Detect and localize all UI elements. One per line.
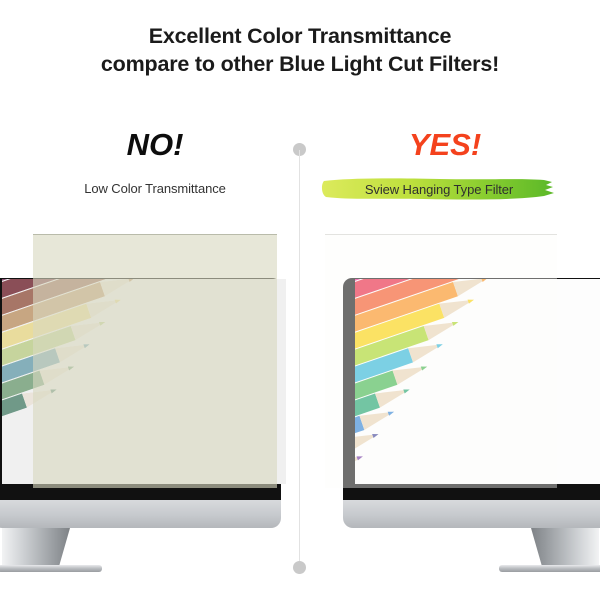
verdict-label-yes: YES! xyxy=(320,127,570,163)
product-comparison-banner: Excellent Color Transmittance compare to… xyxy=(0,0,600,600)
monitor-right-chin xyxy=(343,500,600,528)
monitor-left-stand-neck xyxy=(2,528,70,566)
monitor-left-stand-base xyxy=(0,565,102,572)
monitor-right-stand-base xyxy=(499,565,600,572)
divider-dot-bottom xyxy=(293,561,306,574)
headline-line-1: Excellent Color Transmittance xyxy=(0,22,600,50)
headline-line-2: compare to other Blue Light Cut Filters! xyxy=(0,50,600,78)
page-title: Excellent Color Transmittance compare to… xyxy=(0,22,600,79)
filter-sheet-sview xyxy=(325,234,557,488)
comparison-divider xyxy=(299,150,300,568)
filter-sheet-low-transmittance xyxy=(33,234,277,488)
caption-low-transmittance: Low Color Transmittance xyxy=(30,181,280,196)
verdict-label-no: NO! xyxy=(30,127,280,163)
product-badge: Sview Hanging Type Filter xyxy=(320,176,570,202)
monitor-left-chin xyxy=(0,500,281,528)
monitor-right-stand-neck xyxy=(531,528,599,566)
product-badge-label: Sview Hanging Type Filter xyxy=(320,176,570,202)
